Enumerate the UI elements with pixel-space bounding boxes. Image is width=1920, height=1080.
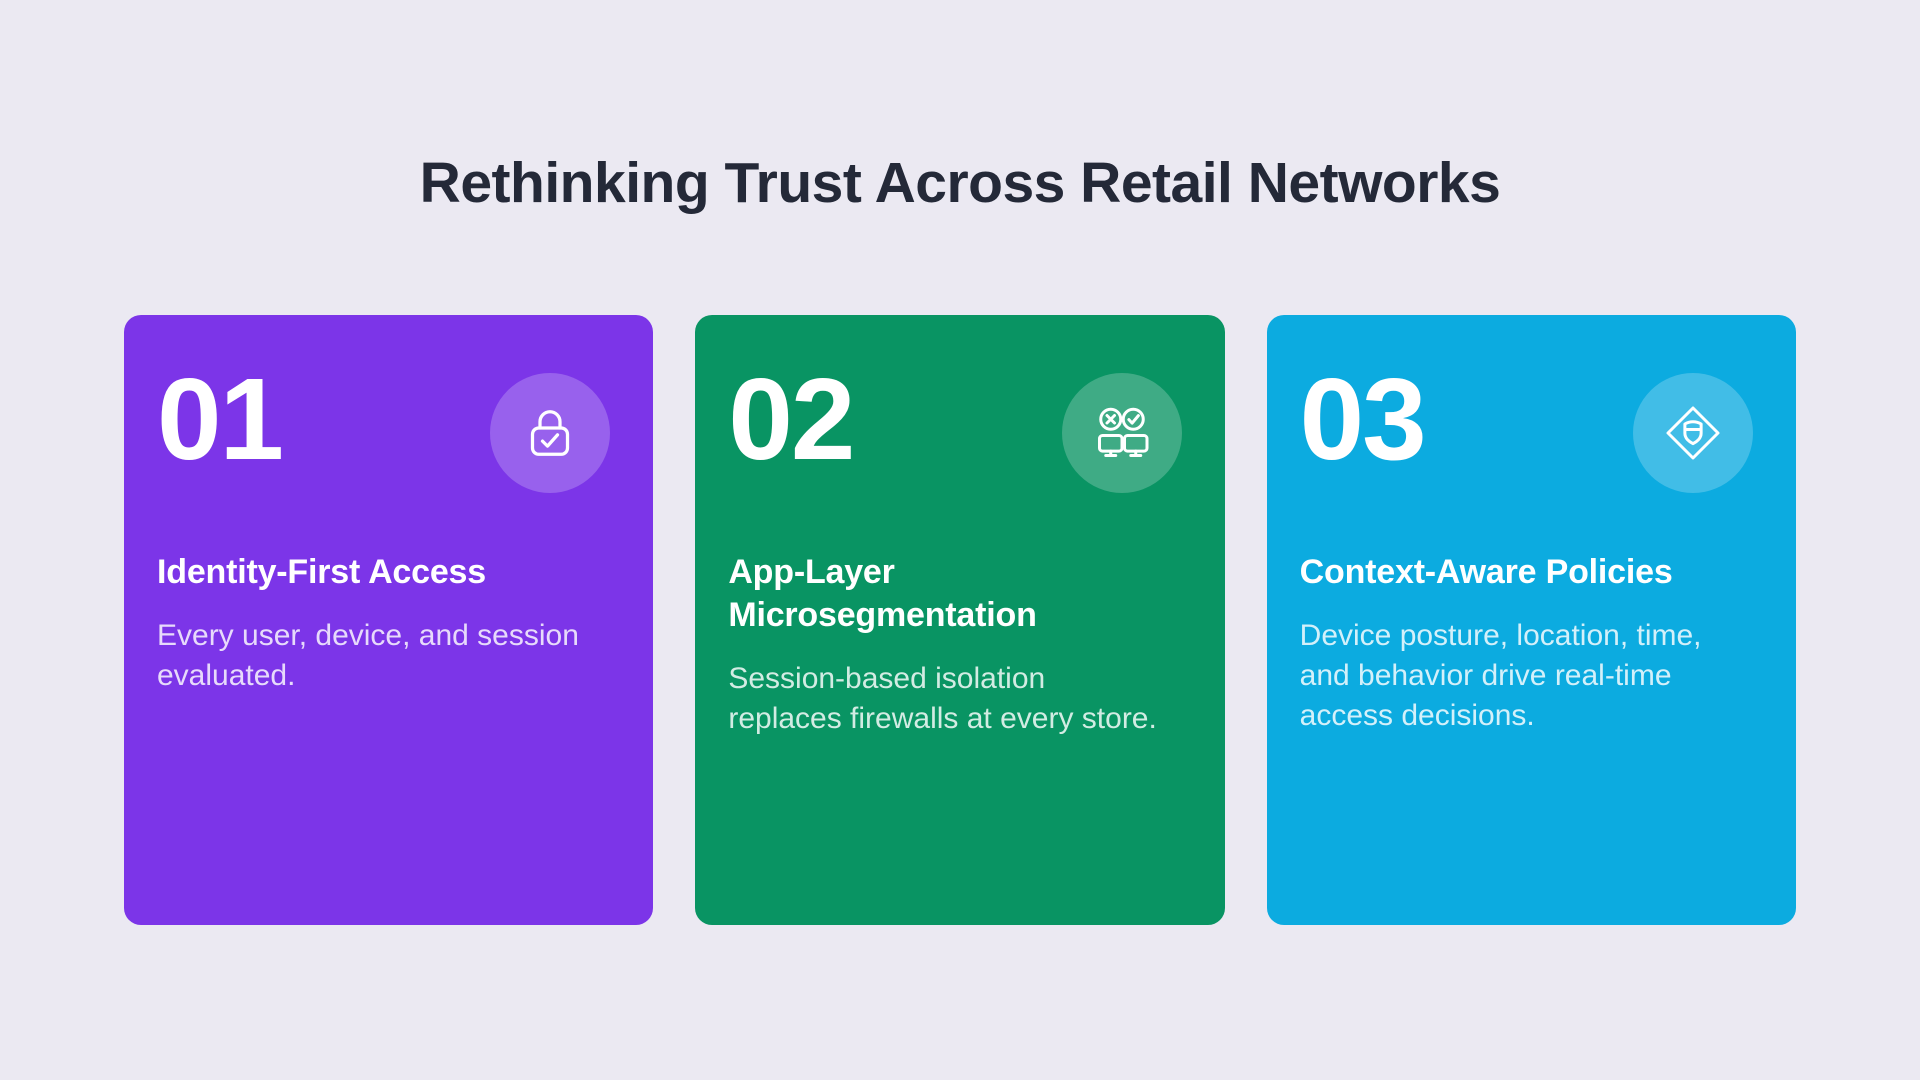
card-number: 01 xyxy=(157,361,282,477)
card-header: 01 xyxy=(157,359,620,551)
monitors-allow-deny-icon xyxy=(1092,403,1152,463)
page-title: Rethinking Trust Across Retail Networks xyxy=(0,152,1920,215)
infographic-canvas: Rethinking Trust Across Retail Networks … xyxy=(0,0,1920,1080)
lock-check-icon xyxy=(520,403,580,463)
card-header: 02 xyxy=(728,359,1191,551)
card-context-aware-policies[interactable]: 03 Context-Aware Policies Device posture… xyxy=(1267,315,1796,925)
shield-diamond-icon xyxy=(1663,403,1723,463)
icon-badge xyxy=(490,373,610,493)
card-app-layer-microsegmentation[interactable]: 02 xyxy=(695,315,1224,925)
card-body: Session-based isolation replaces firewal… xyxy=(728,659,1158,739)
icon-badge xyxy=(1633,373,1753,493)
card-body: Every user, device, and session evaluate… xyxy=(157,616,587,696)
card-header: 03 xyxy=(1300,359,1763,551)
card-identity-first-access[interactable]: 01 Identity-First Access Every user, dev… xyxy=(124,315,653,925)
card-body: Device posture, location, time, and beha… xyxy=(1300,616,1730,736)
card-number: 02 xyxy=(728,361,853,477)
card-list: 01 Identity-First Access Every user, dev… xyxy=(124,315,1796,925)
card-heading: Context-Aware Policies xyxy=(1300,551,1730,594)
card-heading: Identity-First Access xyxy=(157,551,587,594)
icon-badge xyxy=(1062,373,1182,493)
card-heading: App-Layer Microsegmentation xyxy=(728,551,1158,637)
card-number: 03 xyxy=(1300,361,1425,477)
